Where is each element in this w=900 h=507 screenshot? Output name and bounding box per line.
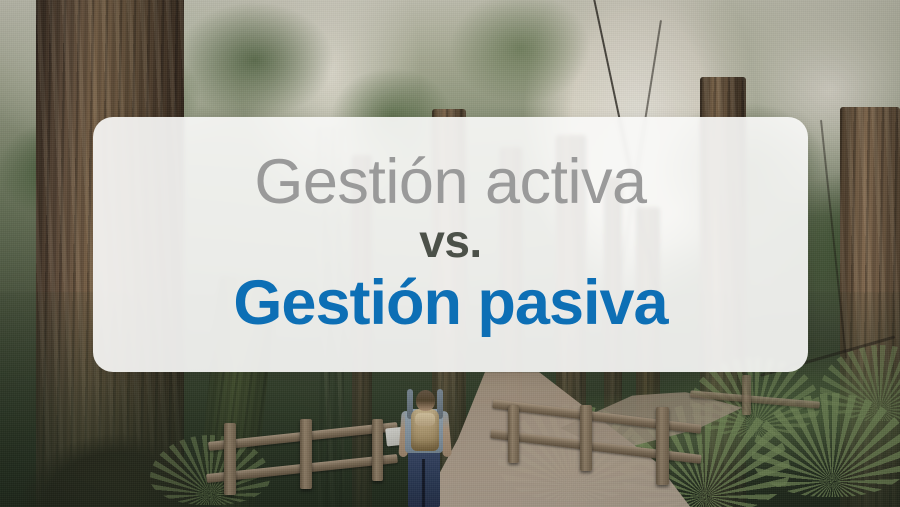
backpack-flap	[415, 413, 435, 426]
title-line-passive: Gestión pasiva	[233, 268, 667, 339]
fence-post-left-2	[300, 419, 312, 489]
hiker-head	[416, 390, 435, 411]
title-block: Gestión activa vs. Gestión pasiva	[233, 150, 667, 338]
title-line-active: Gestión activa	[233, 150, 667, 214]
title-card-image: Gestión activa vs. Gestión pasiva	[0, 0, 900, 507]
hiker-leg-gap	[422, 459, 425, 507]
hiker-backpack	[411, 409, 439, 451]
hiker-figure	[392, 389, 458, 507]
fence-post-right-1	[508, 405, 519, 463]
fence-post-right-2	[580, 405, 592, 471]
fence-post-left-3	[372, 419, 383, 481]
title-card-panel: Gestión activa vs. Gestión pasiva	[93, 117, 808, 372]
fence-post-right-far	[742, 375, 751, 415]
fence-post-left-1	[224, 423, 236, 495]
fence-post-right-3	[656, 407, 669, 485]
title-line-versus: vs.	[233, 215, 667, 268]
